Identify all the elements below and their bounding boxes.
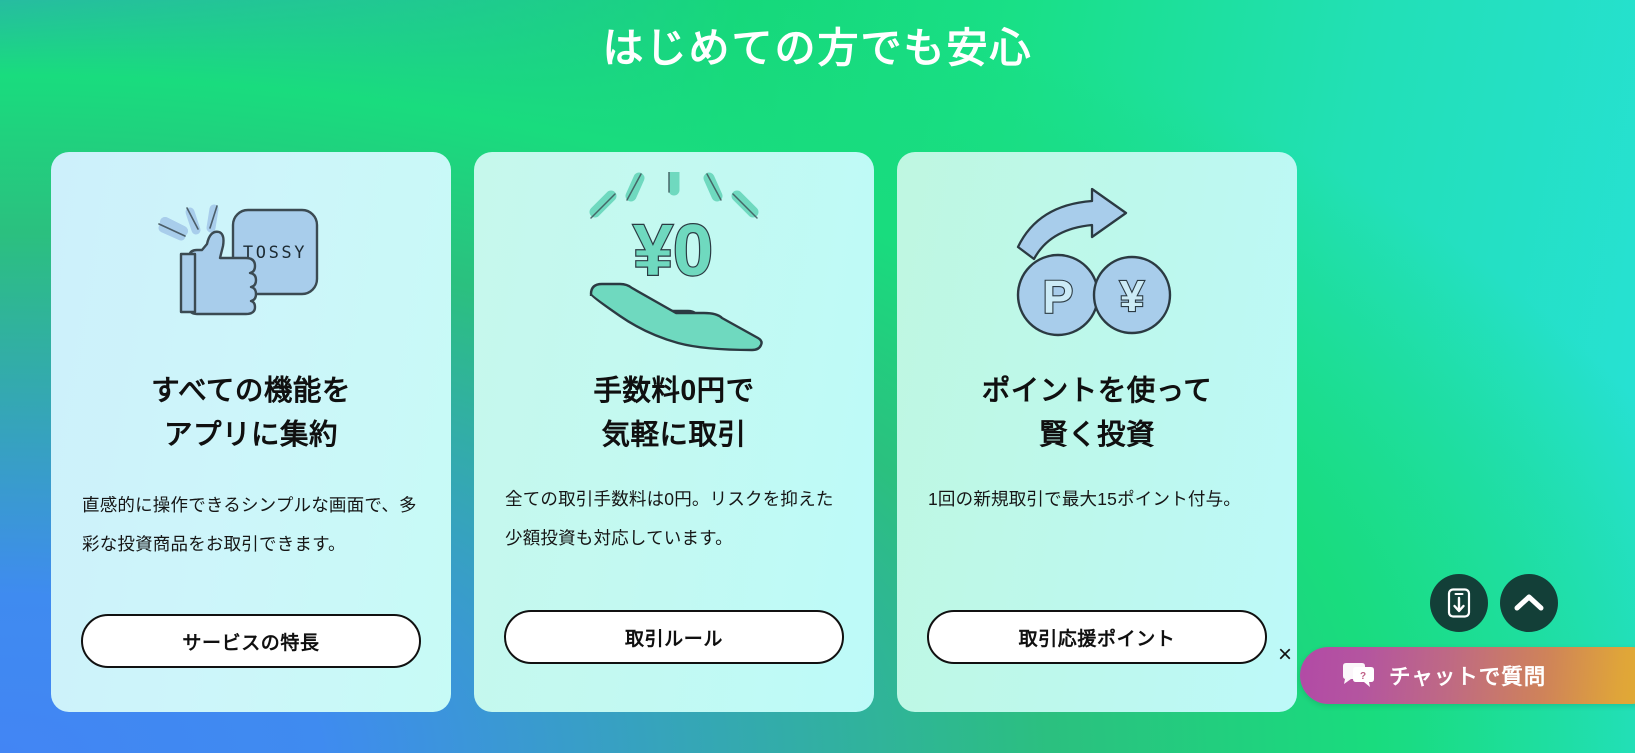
- card-heading-line1: ポイントを使って: [982, 369, 1213, 413]
- card-heading-line2: 気軽に取引: [593, 413, 754, 457]
- chat-bubble-question-icon: ?: [1342, 662, 1376, 689]
- card-heading-line2: 賢く投資: [982, 413, 1213, 457]
- trading-rules-button[interactable]: 取引ルール: [504, 610, 844, 664]
- feature-card-list: TOSSY すべての機能を アプリに集約 直感的に操作できるシンプルな画面で、多…: [51, 152, 1297, 712]
- service-features-button[interactable]: サービスの特長: [81, 614, 421, 668]
- chevron-up-icon: [1514, 593, 1544, 613]
- card-heading-line2: アプリに集約: [151, 413, 351, 457]
- thumbs-up-app-icon: TOSSY: [81, 152, 421, 367]
- yen-zero-text: ¥0: [633, 211, 713, 291]
- phone-download-icon: [1446, 588, 1472, 618]
- point-campaign-button[interactable]: 取引応援ポイント: [927, 610, 1267, 664]
- card-heading: 手数料0円で 気軽に取引: [593, 369, 754, 458]
- card-heading: すべての機能を アプリに集約: [151, 369, 351, 458]
- card-heading-line1: すべての機能を: [151, 369, 351, 413]
- page-title: はじめての方でも安心: [0, 22, 1635, 75]
- point-to-yen-coins-icon: P ¥: [927, 152, 1267, 367]
- feature-card-zero-fee-trading[interactable]: ¥0 手数料0円で 気軽に取引 全ての取引手数料は0円。リスクを抑えた少額投資も…: [474, 152, 874, 712]
- card-body-text: 直感的に操作できるシンプルな画面で、多彩な投資商品をお取引できます。: [81, 486, 421, 565]
- page-root: はじめての方でも安心: [0, 0, 1635, 753]
- card-body-text: 1回の新規取引で最大15ポイント付与。: [927, 480, 1267, 520]
- feature-card-all-features-in-app[interactable]: TOSSY すべての機能を アプリに集約 直感的に操作できるシンプルな画面で、多…: [51, 152, 451, 712]
- chat-badge-label: ?: [1360, 671, 1366, 682]
- hand-yen-zero-icon: ¥0: [504, 152, 844, 367]
- close-chat-icon[interactable]: ×: [1274, 644, 1296, 666]
- chat-question-button[interactable]: ? チャットで質問: [1300, 647, 1635, 704]
- app-download-button[interactable]: [1430, 574, 1488, 632]
- card-heading-line1: 手数料0円で: [593, 369, 754, 413]
- coin-label-point: P: [1042, 271, 1073, 323]
- card-body-text: 全ての取引手数料は0円。リスクを抑えた少額投資も対応しています。: [504, 480, 844, 559]
- chat-button-label: チャットで質問: [1389, 660, 1546, 691]
- coin-label-yen: ¥: [1119, 272, 1144, 321]
- scroll-to-top-button[interactable]: [1500, 574, 1558, 632]
- feature-card-invest-with-points[interactable]: P ¥ ポイントを使って 賢く投資 1回の新規取引で最大15ポイント付与。 取引…: [897, 152, 1297, 712]
- card-heading: ポイントを使って 賢く投資: [982, 369, 1213, 458]
